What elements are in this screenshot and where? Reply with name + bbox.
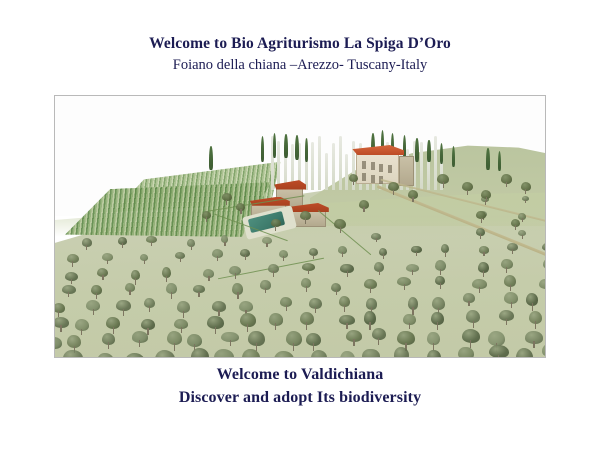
tree-trunk [347, 271, 348, 277]
background-tree [222, 193, 232, 205]
tree-canopy [125, 353, 145, 357]
background-tree [501, 174, 512, 187]
poplar-tree [434, 136, 437, 190]
tree-trunk [467, 190, 468, 195]
tree-trunk [443, 182, 444, 188]
olive-tree [146, 236, 156, 246]
olive-tree [435, 276, 445, 289]
tree-trunk [376, 238, 377, 242]
olive-tree [55, 317, 69, 332]
title-block: Welcome to Bio Agriturismo La Spiga D’Or… [0, 33, 600, 76]
olive-tree [476, 228, 485, 239]
tree-trunk [224, 242, 225, 246]
tree-trunk [226, 200, 227, 205]
tree-trunk [308, 270, 309, 275]
tree-trunk [370, 287, 371, 293]
olive-tree [364, 311, 375, 330]
tree-trunk [346, 323, 347, 329]
tree-trunk [293, 343, 294, 352]
tree-trunk [151, 242, 152, 246]
olive-tree [397, 277, 411, 289]
background-tree [359, 200, 369, 212]
olive-tree [309, 248, 318, 259]
background-tree [408, 190, 418, 202]
olive-tree [260, 280, 270, 293]
olive-tree [542, 344, 545, 357]
olive-tree [162, 267, 171, 282]
tree-trunk [206, 217, 207, 222]
tree-trunk [480, 234, 481, 239]
tree-trunk [108, 342, 109, 349]
tree-trunk [102, 275, 103, 280]
olive-tree [212, 301, 226, 316]
olive-tree [67, 254, 79, 267]
page-title: Welcome to Bio Agriturismo La Spiga D’Or… [0, 33, 600, 54]
tree-trunk [379, 270, 380, 276]
tree-trunk [68, 292, 69, 297]
olive-tree [408, 297, 418, 315]
olive-tree [155, 350, 175, 357]
tree-trunk [481, 218, 482, 223]
olive-tree [466, 310, 480, 328]
tree-trunk [135, 278, 136, 284]
olive-tree [212, 249, 223, 261]
tree-trunk [139, 340, 140, 346]
tree-canopy [542, 344, 545, 356]
olive-tree [526, 293, 538, 311]
tree-canopy [274, 351, 294, 357]
tree-trunk [342, 252, 343, 256]
tree-trunk [340, 227, 341, 233]
tree-trunk [522, 218, 523, 222]
tree-trunk [306, 322, 307, 329]
olive-tree [340, 264, 353, 278]
background-tree [334, 219, 346, 233]
olive-tree [55, 303, 65, 317]
olive-tree [379, 248, 387, 260]
tree-trunk [525, 200, 526, 203]
olive-tree [522, 196, 529, 203]
olive-tree [102, 333, 115, 350]
olive-tree [507, 243, 518, 254]
olive-tree [175, 252, 186, 262]
background-tree [462, 182, 473, 195]
olive-tree [221, 235, 228, 246]
olive-tree [516, 348, 533, 357]
olive-tree [542, 243, 545, 254]
olive-tree [221, 332, 239, 347]
tree-trunk [437, 322, 438, 330]
tree-trunk [483, 252, 484, 256]
olive-tree [441, 244, 449, 257]
olive-tree [55, 337, 62, 355]
tree-trunk [525, 189, 526, 194]
background-tree [521, 182, 531, 194]
tree-trunk [275, 226, 276, 231]
tree-trunk [266, 243, 267, 247]
caption-subheading: Discover and adopt Its biodiversity [0, 386, 600, 409]
tree-canopy [394, 347, 409, 357]
tree-trunk [506, 182, 507, 187]
olive-tree [306, 333, 321, 351]
tree-trunk [409, 323, 410, 329]
olive-tree [339, 296, 350, 311]
olive-tree [529, 311, 542, 329]
olive-tree [86, 300, 100, 315]
olive-tree [268, 264, 279, 277]
olive-tree [193, 285, 205, 297]
background-tree [236, 203, 245, 214]
tree-trunk [412, 270, 413, 275]
olive-tree [462, 329, 480, 348]
tree-trunk [353, 339, 354, 346]
tree-trunk [522, 235, 523, 239]
olive-tree [300, 312, 314, 330]
tree-trunk [283, 256, 284, 261]
olive-tree [427, 332, 440, 351]
tree-trunk [353, 181, 354, 186]
tree-trunk [218, 310, 219, 316]
olive-tree [362, 349, 379, 357]
background-tree [437, 174, 449, 188]
estate-illustration-frame [54, 95, 546, 358]
olive-tree [132, 331, 148, 346]
olive-tree [501, 259, 513, 273]
tree-trunk [515, 225, 516, 230]
tree-canopy [516, 348, 533, 357]
olive-tree [125, 283, 135, 295]
tree-trunk [129, 290, 130, 295]
background-tree [388, 182, 399, 195]
olive-tree [472, 279, 487, 292]
tree-trunk [72, 261, 73, 266]
tree-trunk [532, 303, 533, 310]
tree-trunk [107, 260, 108, 265]
tree-canopy [63, 350, 83, 357]
olive-tree [229, 266, 241, 279]
tree-trunk [440, 269, 441, 275]
olive-tree [177, 301, 190, 318]
tree-trunk [416, 252, 417, 256]
tree-trunk [273, 271, 274, 276]
tree-trunk [363, 207, 364, 212]
tree-canopy [427, 350, 441, 357]
tree-trunk [336, 290, 337, 295]
tree-trunk [235, 273, 236, 278]
olive-tree [140, 254, 148, 264]
cypress-tree [427, 140, 430, 162]
tree-trunk [344, 305, 345, 311]
tree-trunk [412, 197, 413, 202]
olive-tree [191, 348, 209, 357]
olive-tree [279, 250, 288, 261]
tree-trunk [506, 319, 507, 325]
olive-tree [394, 347, 409, 357]
olive-tree [478, 262, 489, 277]
olive-tree [339, 315, 355, 330]
background-tree [481, 190, 491, 202]
caption-heading: Welcome to Valdichiana [0, 363, 600, 386]
olive-tree [269, 313, 284, 330]
cypress-tree [284, 134, 287, 158]
tree-trunk [404, 284, 405, 289]
tree-canopy [191, 348, 209, 357]
olive-tree [309, 298, 322, 314]
olive-tree [504, 292, 518, 308]
tree-trunk [191, 246, 192, 251]
tree-canopy [214, 349, 234, 357]
olive-tree [301, 278, 311, 292]
olive-tree [374, 262, 384, 276]
olive-tree [82, 238, 92, 250]
tree-canopy [362, 349, 379, 357]
olive-tree [340, 351, 355, 357]
tree-trunk [535, 321, 536, 329]
tree-trunk [183, 311, 184, 318]
page-subtitle: Foiano della chiana –Arezzo- Tuscany-Ita… [0, 54, 600, 76]
olive-tree [214, 349, 234, 357]
tree-trunk [123, 309, 124, 316]
tree-trunk [198, 292, 199, 297]
olive-tree [406, 264, 419, 275]
background-tree [271, 219, 281, 231]
olive-tree [499, 310, 514, 325]
tree-trunk [149, 306, 150, 312]
olive-tree [187, 239, 194, 250]
olive-tree [97, 268, 108, 280]
tree-trunk [498, 355, 499, 357]
olive-tree [167, 331, 182, 351]
tree-canopy [311, 350, 327, 357]
tree-trunk [393, 190, 394, 195]
tree-canopy [242, 349, 260, 357]
olive-tree [525, 331, 542, 348]
tree-trunk [383, 254, 384, 259]
tree-trunk [483, 271, 484, 277]
tree-trunk [208, 276, 209, 281]
tree-trunk [511, 302, 512, 309]
tree-canopy [542, 243, 545, 251]
tree-trunk [315, 307, 316, 314]
olive-tree [411, 246, 421, 257]
tree-canopy [155, 350, 175, 357]
tree-trunk [440, 283, 441, 289]
caption-block: Welcome to Valdichiana Discover and adop… [0, 363, 600, 409]
cypress-tree [486, 148, 489, 170]
olive-tree [63, 350, 83, 357]
olive-tree [427, 350, 441, 357]
tree-canopy [340, 351, 355, 357]
tree-trunk [93, 309, 94, 315]
tree-trunk [86, 245, 87, 250]
cypress-tree [209, 146, 213, 170]
olive-tree [240, 249, 250, 260]
olive-tree [116, 300, 131, 316]
olive-tree [166, 283, 177, 298]
background-tree [202, 211, 211, 222]
tree-trunk [240, 209, 241, 214]
tree-trunk [512, 249, 513, 254]
tree-trunk [96, 293, 97, 299]
olive-tree [65, 272, 77, 284]
olive-tree [242, 349, 260, 357]
olive-tree [75, 319, 89, 335]
cypress-tree [440, 143, 443, 164]
tree-trunk [313, 255, 314, 259]
tree-trunk [217, 256, 218, 261]
tree-trunk [265, 288, 266, 293]
tree-trunk [506, 267, 507, 273]
tree-trunk [486, 197, 487, 202]
olive-tree [91, 285, 102, 299]
olive-tree [274, 351, 294, 357]
tree-trunk [445, 252, 446, 258]
olive-tree [302, 263, 315, 274]
tree-trunk [378, 338, 379, 345]
olive-tree [62, 285, 76, 298]
tree-trunk [510, 285, 511, 292]
tree-canopy [55, 337, 62, 350]
olive-tree [240, 313, 256, 332]
olive-tree [125, 353, 145, 357]
background-tree [349, 174, 358, 185]
tree-trunk [60, 325, 61, 331]
olive-tree [262, 237, 272, 248]
tree-trunk [479, 287, 480, 293]
tree-trunk [180, 258, 181, 262]
tree-canopy [55, 317, 69, 328]
tree-trunk [237, 292, 238, 299]
olive-tree [539, 279, 545, 293]
tree-trunk [275, 323, 276, 330]
olive-tree [543, 259, 545, 273]
background-tree [300, 211, 311, 224]
tree-trunk [369, 322, 370, 330]
olive-tree [280, 297, 292, 311]
tree-trunk [533, 341, 534, 348]
olive-tree [106, 317, 120, 334]
olive-tree [372, 328, 386, 345]
tree-trunk [245, 255, 246, 260]
olive-tree [286, 331, 302, 352]
olive-tree [364, 279, 377, 293]
tree-trunk [473, 321, 474, 329]
olive-tree [403, 314, 415, 329]
tree-trunk [166, 276, 167, 282]
olive-tree [435, 260, 446, 275]
olive-tree [97, 353, 114, 357]
olive-tree [346, 330, 362, 346]
olive-tree [331, 283, 341, 296]
background-tree [511, 219, 520, 230]
tree-trunk [122, 243, 123, 248]
tree-trunk [215, 327, 216, 335]
olive-tree [102, 253, 113, 264]
estate-illustration [55, 96, 545, 357]
olive-tree [489, 345, 509, 357]
tree-canopy [458, 347, 474, 357]
olive-tree [144, 298, 155, 312]
tree-canopy [543, 259, 545, 269]
olive-tree [431, 312, 444, 330]
olive-tree [118, 237, 127, 248]
tree-trunk [230, 340, 231, 346]
olive-tree [311, 350, 327, 357]
olive-tree [232, 283, 243, 300]
background-tree [476, 211, 486, 223]
olive-tree [203, 269, 214, 281]
cypress-tree [295, 135, 299, 160]
tree-canopy [55, 303, 65, 313]
tree-trunk [286, 305, 287, 311]
olive-tree [463, 293, 475, 306]
olive-tree [371, 233, 381, 242]
olive-tree [338, 246, 347, 257]
tree-trunk [144, 260, 145, 264]
tree-trunk [171, 292, 172, 299]
tree-trunk [468, 301, 469, 307]
olive-tree [479, 246, 490, 256]
tree-trunk [306, 286, 307, 292]
tree-trunk [305, 218, 306, 223]
olive-tree [504, 275, 516, 291]
olive-tree [518, 230, 526, 239]
tree-canopy [97, 353, 114, 357]
olive-tree [458, 347, 474, 357]
